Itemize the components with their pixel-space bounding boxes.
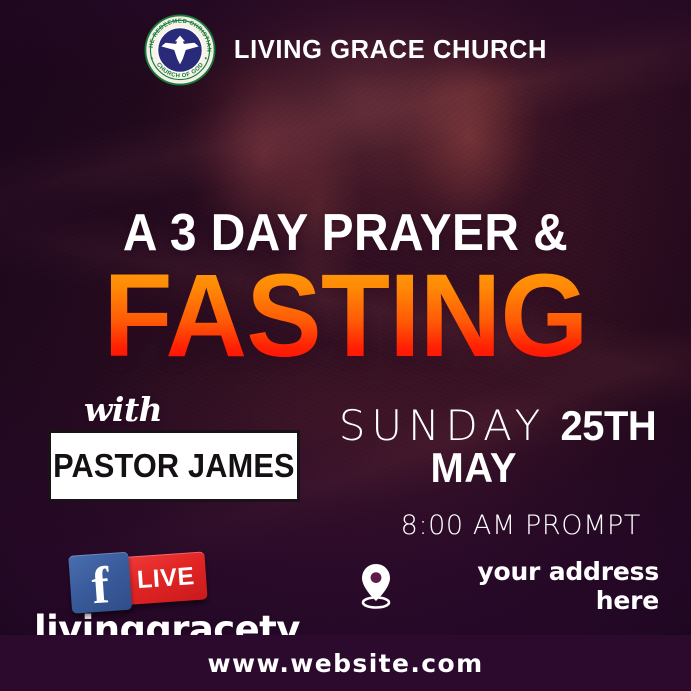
headline: A 3 DAY PRAYER & FASTING (0, 206, 691, 368)
speaker-name-box: PASTOR JAMES (48, 430, 300, 502)
rccg-seal-logo: THE REDEEMED CHRISTIAN CHURCH OF GOD * * (144, 14, 216, 86)
event-address: your address here (407, 557, 659, 615)
with-label: with (84, 393, 300, 427)
headline-line-2-fasting: FASTING (14, 264, 677, 368)
location-pin-icon (359, 563, 393, 609)
header: THE REDEEMED CHRISTIAN CHURCH OF GOD * *… (0, 14, 691, 86)
facebook-icon[interactable]: f (68, 552, 132, 614)
event-weekday: SUNDAY (339, 404, 547, 448)
event-time: 8:00 AM PROMPT (359, 510, 641, 541)
address-row: your address here (359, 557, 659, 615)
facebook-live-badge[interactable]: f LIVE (68, 540, 296, 613)
date-row: SUNDAY 25TH (359, 404, 659, 448)
church-name: LIVING GRACE CHURCH (234, 36, 547, 65)
live-badge[interactable]: LIVE (121, 551, 207, 605)
event-flyer: THE REDEEMED CHRISTIAN CHURCH OF GOD * *… (0, 0, 691, 691)
event-month: MAY (363, 446, 517, 490)
speaker-block: with PASTOR JAMES (48, 393, 300, 502)
speaker-name: PASTOR JAMES (53, 447, 295, 485)
event-details: SUNDAY 25TH MAY 8:00 AM PROMPT your addr… (359, 404, 659, 615)
live-badge-label: LIVE (136, 562, 195, 595)
website-url[interactable]: www.website.com (207, 649, 483, 678)
event-day-number: 25TH (561, 404, 657, 448)
facebook-letter: f (90, 561, 111, 612)
footer-bar: www.website.com (0, 635, 691, 691)
